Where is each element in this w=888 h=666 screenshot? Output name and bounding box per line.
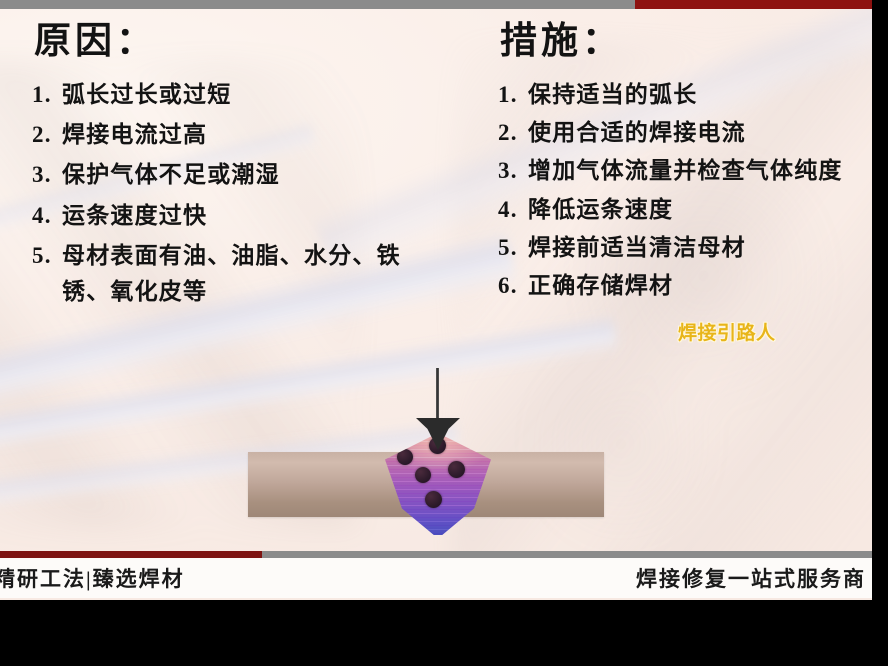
welding-diagram — [236, 360, 616, 535]
porosity-dot — [415, 467, 431, 483]
bottom-rule-grey-segment — [262, 551, 872, 558]
list-item: 2. 使用合适的焊接电流 — [498, 115, 872, 151]
list-item-text: 使用合适的焊接电流 — [528, 115, 872, 151]
list-item-number: 4. — [498, 192, 528, 228]
screenshot-stage: 原因： 1. 弧长过长或过短 2. 焊接电流过高 3. 保护气体不足或潮湿 4.… — [0, 0, 888, 666]
list-item-number: 3. — [32, 157, 62, 193]
list-item-number: 6. — [498, 268, 528, 304]
list-item-number: 4. — [32, 198, 62, 234]
top-rule-grey-segment — [0, 0, 635, 9]
top-divider-rule — [0, 0, 872, 9]
porosity-dot — [425, 491, 442, 508]
list-item-number: 5. — [498, 230, 528, 266]
causes-list: 1. 弧长过长或过短 2. 焊接电流过高 3. 保护气体不足或潮湿 4. 运条速… — [32, 77, 452, 311]
footer-slogan-left: 精研工法|臻选焊材 — [0, 563, 185, 593]
list-item: 4. 降低运条速度 — [498, 192, 872, 228]
list-item-text: 降低运条速度 — [528, 192, 872, 228]
porosity-dot — [448, 461, 465, 478]
list-item-number: 3. — [498, 153, 528, 189]
welding-arrow-shaft — [436, 368, 439, 422]
measures-list: 1. 保持适当的弧长 2. 使用合适的焊接电流 3. 增加气体流量并检查气体纯度… — [498, 77, 872, 305]
list-item-text: 增加气体流量并检查气体纯度 — [528, 153, 872, 189]
list-item-text: 运条速度过快 — [62, 198, 452, 234]
list-item: 1. 弧长过长或过短 — [32, 77, 452, 113]
list-item: 3. 增加气体流量并检查气体纯度 — [498, 153, 872, 189]
list-item-number: 5. — [32, 238, 62, 274]
letterbox-right — [872, 0, 888, 666]
list-item-text: 保持适当的弧长 — [528, 77, 872, 113]
list-item-text: 母材表面有油、油脂、水分、铁 锈、氧化皮等 — [62, 238, 452, 311]
list-item-number: 1. — [498, 77, 528, 113]
top-rule-red-segment — [635, 0, 872, 9]
list-item: 5. 焊接前适当清洁母材 — [498, 230, 872, 266]
list-item-text: 正确存储焊材 — [528, 268, 872, 304]
list-item: 3. 保护气体不足或潮湿 — [32, 157, 452, 193]
list-item: 2. 焊接电流过高 — [32, 117, 452, 153]
bottom-rule-red-segment — [0, 551, 262, 558]
causes-column: 原因： 1. 弧长过长或过短 2. 焊接电流过高 3. 保护气体不足或潮湿 4.… — [32, 22, 452, 315]
measures-title: 措施： — [500, 22, 872, 63]
list-item-text: 焊接前适当清洁母材 — [528, 230, 872, 266]
list-item-number: 1. — [32, 77, 62, 113]
list-item: 4. 运条速度过快 — [32, 198, 452, 234]
bottom-divider-rule — [0, 551, 872, 558]
list-item: 1. 保持适当的弧长 — [498, 77, 872, 113]
list-item-number: 2. — [32, 117, 62, 153]
presentation-slide: 原因： 1. 弧长过长或过短 2. 焊接电流过高 3. 保护气体不足或潮湿 4.… — [0, 0, 872, 600]
causes-title: 原因： — [34, 22, 452, 63]
measures-column: 措施： 1. 保持适当的弧长 2. 使用合适的焊接电流 3. 增加气体流量并检查… — [498, 22, 872, 307]
list-item-text: 弧长过长或过短 — [62, 77, 452, 113]
letterbox-bottom — [0, 600, 888, 666]
list-item-number: 2. — [498, 115, 528, 151]
footer-band: 精研工法|臻选焊材 焊接修复一站式服务商 — [0, 558, 872, 598]
list-item: 5. 母材表面有油、油脂、水分、铁 锈、氧化皮等 — [32, 238, 452, 311]
list-item-text: 保护气体不足或潮湿 — [62, 157, 452, 193]
list-item: 6. 正确存储焊材 — [498, 268, 872, 304]
footer-slogan-right: 焊接修复一站式服务商 — [636, 563, 866, 593]
list-item-text: 焊接电流过高 — [62, 117, 452, 153]
channel-watermark: 焊接引路人 — [678, 318, 776, 345]
